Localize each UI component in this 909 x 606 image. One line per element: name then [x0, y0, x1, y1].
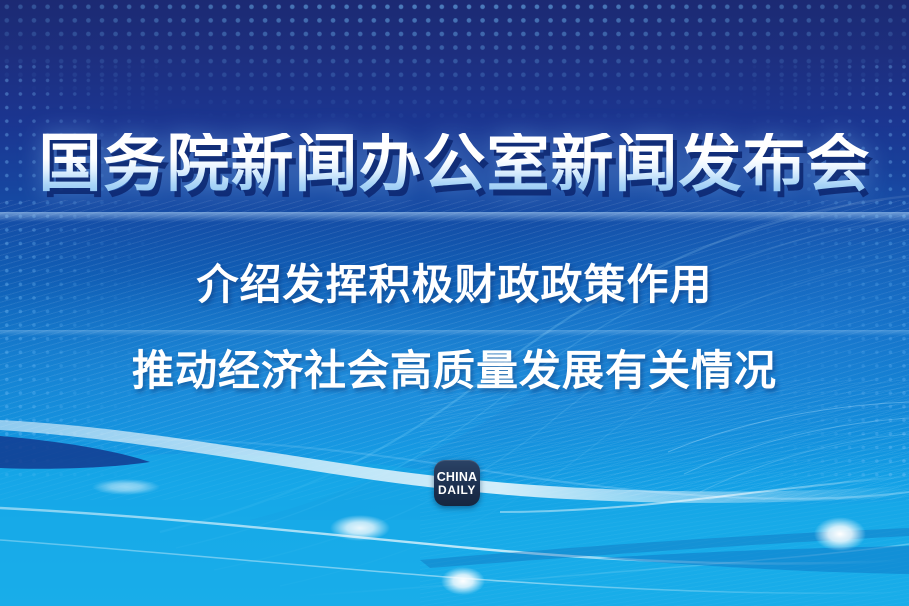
subtitle-line-1-container: 介绍发挥积极财政政策作用	[0, 264, 909, 306]
china-daily-logo-line-1: CHINA	[437, 471, 478, 483]
subtitle-line-1: 介绍发挥积极财政政策作用	[196, 264, 712, 306]
subtitle-line-2: 推动经济社会高质量发展有关情况	[132, 350, 777, 392]
page-title: 国务院新闻办公室新闻发布会	[39, 133, 871, 196]
china-daily-logo: CHINA DAILY	[434, 460, 480, 506]
china-daily-logo-line-2: DAILY	[438, 484, 476, 496]
title-container: 国务院新闻办公室新闻发布会	[0, 133, 909, 196]
subtitle-line-2-container: 推动经济社会高质量发展有关情况	[0, 350, 909, 392]
press-conference-banner: 国务院新闻办公室新闻发布会 介绍发挥积极财政政策作用 推动经济社会高质量发展有关…	[0, 0, 909, 606]
